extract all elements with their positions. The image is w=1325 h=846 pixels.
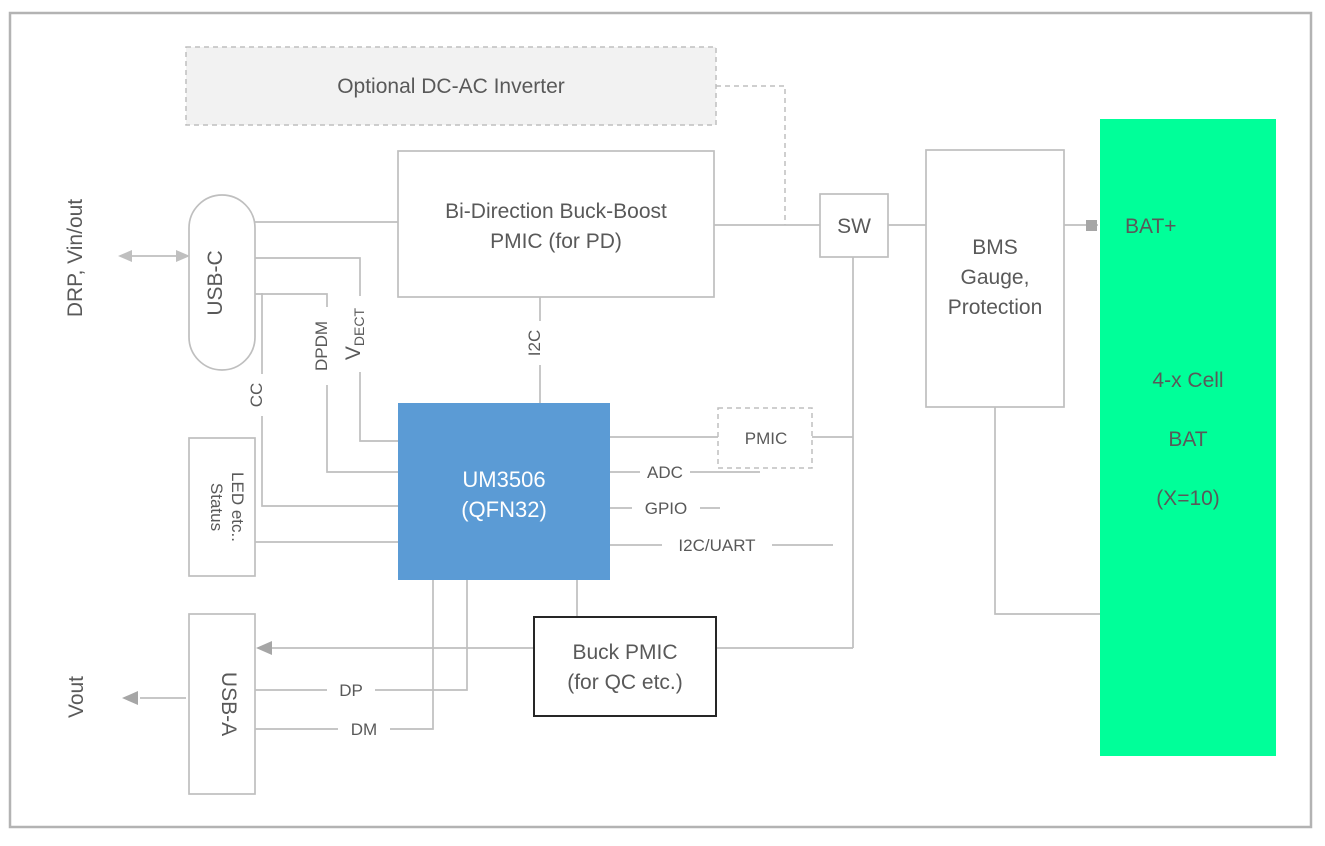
arrow-drp-left bbox=[118, 250, 132, 262]
svg-text:DM: DM bbox=[351, 720, 377, 739]
signal-label-adc: ADC bbox=[647, 463, 683, 482]
signal-label-dm: DM bbox=[338, 717, 390, 739]
vdect-base: V bbox=[342, 346, 365, 360]
block-battery-pack[interactable]: BAT+ 4-x Cell BAT (X=10) bbox=[1100, 119, 1276, 756]
battery-terminal-label: BAT+ bbox=[1125, 215, 1177, 238]
um3506-label-line1: UM3506 bbox=[462, 467, 545, 492]
svg-text:DP: DP bbox=[339, 681, 363, 700]
signal-label-dp: DP bbox=[327, 678, 375, 700]
led-status-label-line2: Status bbox=[207, 483, 226, 531]
buck-boost-label-line1: Bi-Direction Buck-Boost bbox=[445, 200, 667, 223]
edge-label-vout: Vout bbox=[65, 676, 88, 718]
block-usb-c-connector[interactable]: USB-C bbox=[189, 195, 255, 370]
bms-label-line1: BMS bbox=[972, 236, 1018, 259]
svg-text:CC: CC bbox=[247, 383, 266, 408]
edge-label-drp-vin-out: DRP, Vin/out bbox=[64, 199, 87, 317]
block-bms[interactable]: BMS Gauge, Protection bbox=[926, 150, 1064, 407]
usb-a-label: USB-A bbox=[217, 672, 240, 736]
sw-label: SW bbox=[837, 215, 871, 238]
um3506-label-line2: (QFN32) bbox=[461, 497, 547, 522]
battery-label-line1: 4-x Cell bbox=[1152, 369, 1223, 392]
optional-inverter-label: Optional DC-AC Inverter bbox=[337, 75, 565, 98]
wire-inverter-tap bbox=[716, 86, 785, 225]
arrow-drp-right bbox=[176, 250, 190, 262]
battery-label-line3: (X=10) bbox=[1156, 487, 1220, 510]
arrow-vout bbox=[122, 691, 138, 705]
block-led-status[interactable]: LED etc.. Status bbox=[189, 438, 255, 576]
usb-c-label: USB-C bbox=[204, 250, 227, 315]
wire-bms-battery-low bbox=[995, 407, 1100, 614]
block-optional-inverter[interactable]: Optional DC-AC Inverter bbox=[186, 47, 716, 125]
svg-text:I2C: I2C bbox=[525, 330, 544, 356]
buck-pmic-label-line2: (for QC etc.) bbox=[567, 671, 683, 694]
buck-boost-label-line2: PMIC (for PD) bbox=[490, 230, 622, 253]
block-buck-boost-pmic[interactable]: Bi-Direction Buck-Boost PMIC (for PD) bbox=[398, 151, 714, 297]
block-usb-a-connector[interactable]: USB-A bbox=[189, 614, 255, 794]
wire-mcu-dm-usba bbox=[255, 580, 433, 729]
buck-pmic-label-line1: Buck PMIC bbox=[572, 641, 677, 664]
bms-label-line3: Protection bbox=[948, 296, 1043, 319]
block-sw-switch[interactable]: SW bbox=[820, 194, 888, 257]
battery-terminal-node bbox=[1086, 220, 1097, 231]
bms-label-line2: Gauge, bbox=[961, 266, 1030, 289]
signal-label-i2c-uart: I2C/UART bbox=[678, 536, 755, 555]
signal-label-i2c: I2C bbox=[525, 321, 550, 365]
signal-label-gpio: GPIO bbox=[645, 499, 688, 518]
svg-text:DPDM: DPDM bbox=[312, 321, 331, 371]
svg-text:VDECT: VDECT bbox=[342, 307, 367, 360]
block-diagram-canvas: Optional DC-AC Inverter Bi-Direction Buc… bbox=[0, 0, 1325, 846]
block-um3506-mcu[interactable]: UM3506 (QFN32) bbox=[398, 403, 610, 580]
wire-mcu-dp-usba bbox=[255, 580, 467, 690]
signal-label-dpdm: DPDM bbox=[312, 307, 337, 385]
block-buck-pmic[interactable]: Buck PMIC (for QC etc.) bbox=[534, 617, 716, 716]
led-status-label-line1: LED etc.. bbox=[228, 472, 247, 542]
block-optional-pmic[interactable]: PMIC bbox=[718, 408, 812, 468]
battery-label-line2: BAT bbox=[1168, 428, 1207, 451]
signal-label-vdect: VDECT bbox=[342, 296, 372, 372]
optional-pmic-label: PMIC bbox=[745, 429, 788, 448]
arrow-buckpmic-usba bbox=[256, 641, 272, 655]
vdect-subscript: DECT bbox=[351, 307, 367, 346]
signal-label-cc: CC bbox=[247, 374, 272, 416]
